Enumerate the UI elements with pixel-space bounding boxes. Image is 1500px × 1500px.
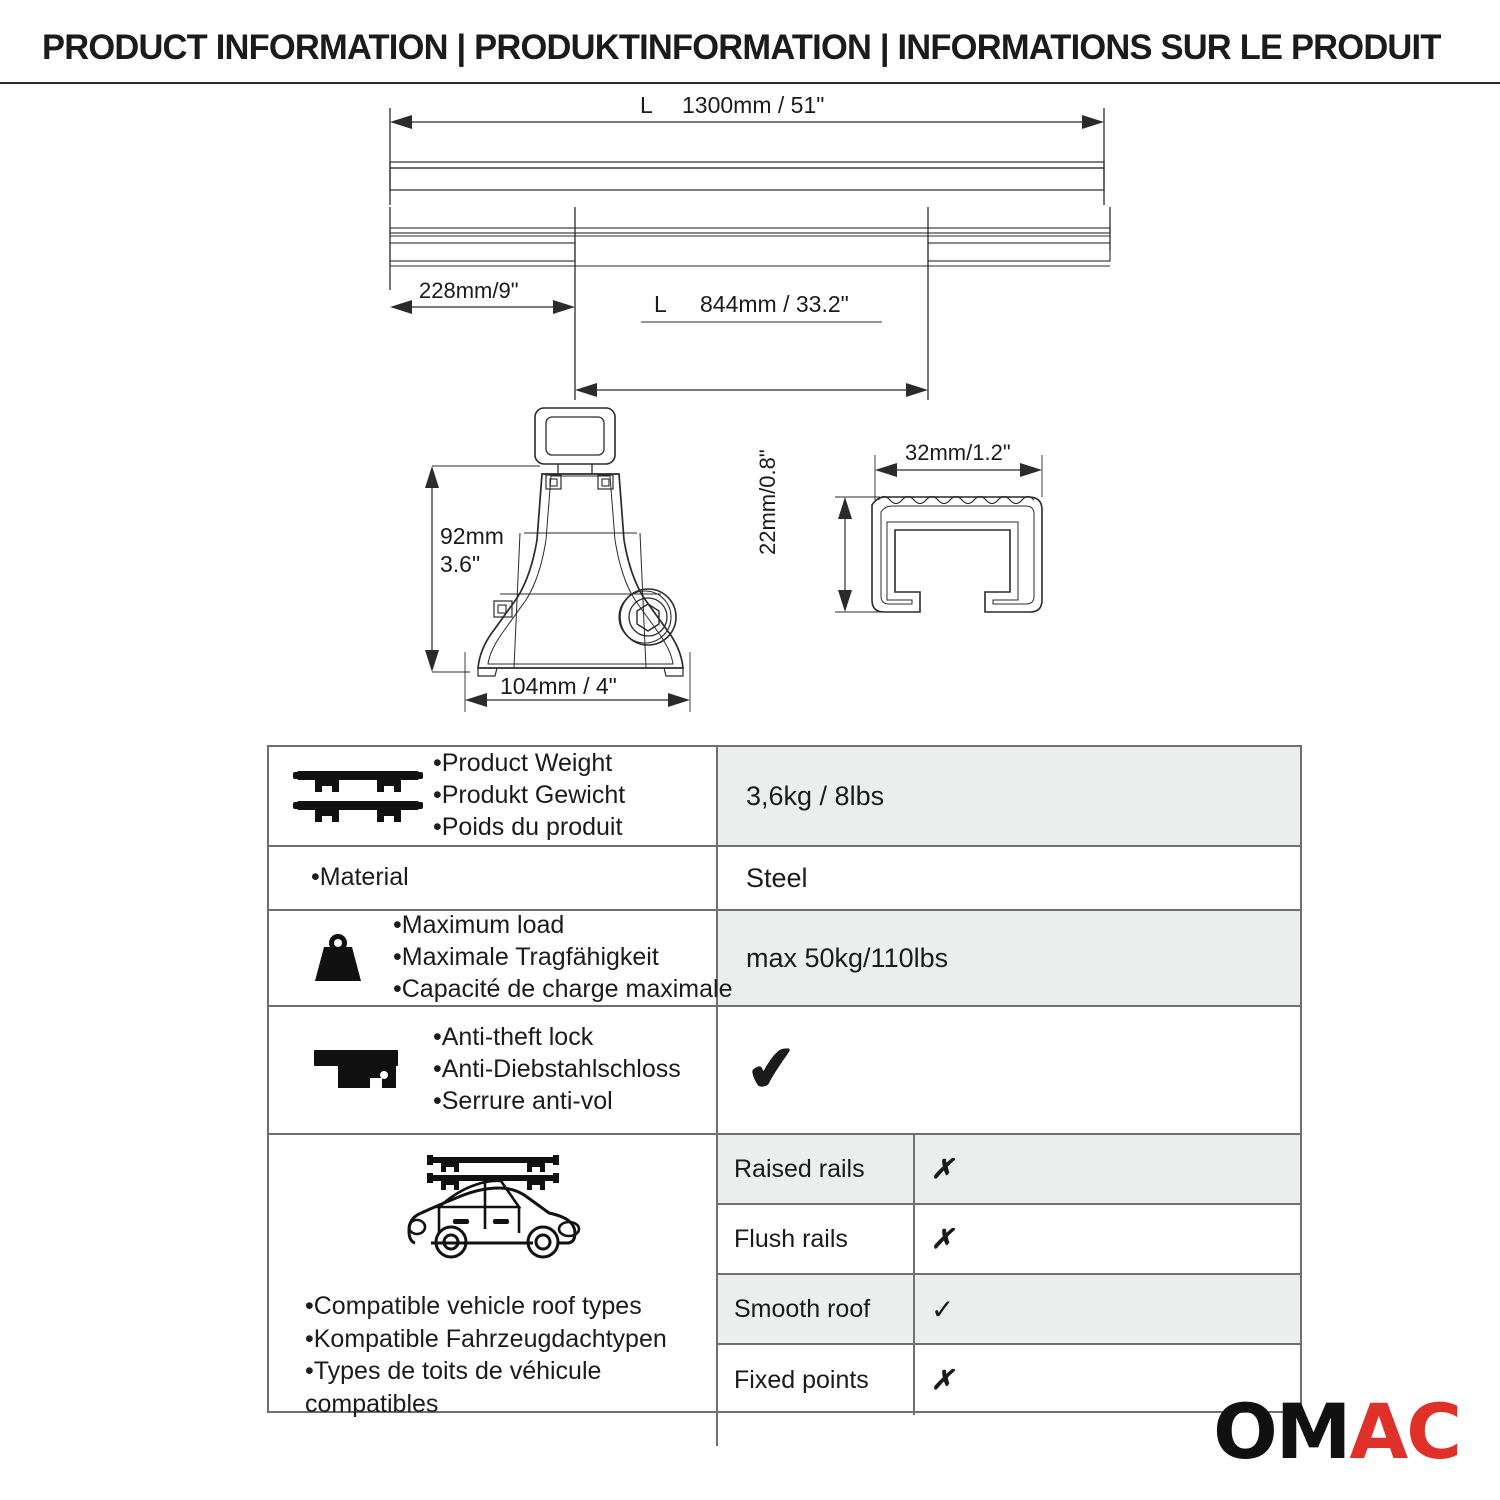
foot-height-line1: 92mm [440,523,504,550]
bar-length-prefix: L [640,92,653,119]
row-labels: •Anti-theft lock •Anti-Diebstahlschloss … [433,1022,681,1117]
roof-type-mark: ✓ [915,1275,1300,1343]
row-label-cell: •Material [269,847,718,909]
label-en: •Anti-theft lock [433,1022,681,1054]
page-title: PRODUCT INFORMATION | PRODUKTINFORMATION… [42,28,1441,68]
table-row-product-weight: •Product Weight •Produkt Gewicht •Poids … [269,747,1300,847]
logo-text-ac: AC [1349,1387,1460,1476]
label-fr: •Types de toits de véhicule compatibles [305,1355,665,1420]
bar-length-value: 1300mm / 51" [682,92,824,119]
omac-logo: OMAC [1213,1394,1460,1470]
car-with-roofrack-icon [393,1147,593,1278]
roof-type-name: Smooth roof [718,1275,915,1343]
row-labels: •Material [283,862,409,894]
weight-icon [283,927,393,989]
spread-prefix: L [654,291,667,318]
cross-icon: ✗ [931,1154,954,1185]
label-de: •Kompatible Fahrzeugdachtypen [305,1323,667,1356]
foot-width-value: 104mm / 4" [500,673,617,700]
foot-offset-value: 228mm/9" [419,278,519,304]
label-fr: •Capacité de charge maximale [393,974,732,1006]
cross-icon: ✗ [931,1365,954,1396]
row-label-cell: •Maximum load •Maximale Tragfähigkeit •C… [269,911,718,1005]
row-labels: •Maximum load •Maximale Tragfähigkeit •C… [393,910,732,1005]
anti-theft-lock-value: ✔ [718,1007,1300,1133]
product-info-sheet: PRODUCT INFORMATION | PRODUKTINFORMATION… [0,0,1500,1500]
roof-type-row-raised-rails: Raised rails ✗ [718,1135,1300,1205]
label-fr: •Poids du produit [433,812,625,844]
compatibility-labels: •Compatible vehicle roof types •Kompatib… [269,1278,667,1420]
row-label-cell: •Product Weight •Produkt Gewicht •Poids … [269,747,718,845]
maximum-load-value: max 50kg/110lbs [718,911,1300,1005]
specification-table: •Product Weight •Produkt Gewicht •Poids … [267,745,1302,1413]
foot-height-line2: 3.6" [440,551,480,578]
label-fr: •Serrure anti-vol [433,1086,681,1118]
roof-type-name: Raised rails [718,1135,915,1203]
cross-icon: ✗ [931,1224,954,1255]
header-divider [0,82,1500,84]
row-labels: •Product Weight •Produkt Gewicht •Poids … [433,748,625,843]
product-weight-value: 3,6kg / 8lbs [718,747,1300,845]
label-en: •Material [311,862,409,894]
roof-type-row-smooth-roof: Smooth roof ✓ [718,1275,1300,1345]
spread-value: 844mm / 33.2" [700,291,849,318]
roof-type-row-flush-rails: Flush rails ✗ [718,1205,1300,1275]
row-label-cell: •Anti-theft lock •Anti-Diebstahlschloss … [269,1007,718,1133]
profile-height-value: 22mm/0.8" [755,449,781,555]
material-value: Steel [718,847,1300,909]
roof-type-name: Fixed points [718,1345,915,1415]
lock-icon [283,1044,433,1096]
roof-type-mark: ✗ [915,1205,1300,1273]
label-en: •Product Weight [433,748,625,780]
table-row-anti-theft-lock: •Anti-theft lock •Anti-Diebstahlschloss … [269,1007,1300,1135]
label-de: •Maximale Tragfähigkeit [393,942,732,974]
table-row-material: •Material Steel [269,847,1300,911]
label-en: •Compatible vehicle roof types [305,1290,667,1323]
profile-width-value: 32mm/1.2" [905,440,1011,466]
label-en: •Maximum load [393,910,732,942]
table-row-maximum-load: •Maximum load •Maximale Tragfähigkeit •C… [269,911,1300,1007]
roof-type-mark: ✗ [915,1135,1300,1203]
label-de: •Produkt Gewicht [433,780,625,812]
label-de: •Anti-Diebstahlschloss [433,1054,681,1086]
table-row-compatibility: •Compatible vehicle roof types •Kompatib… [269,1135,1300,1446]
checkmark-icon: ✔ [743,1036,801,1103]
roof-type-name: Flush rails [718,1205,915,1273]
compatibility-label-cell: •Compatible vehicle roof types •Kompatib… [269,1135,718,1446]
logo-text-om: OM [1213,1387,1349,1476]
crossbars-icon [283,765,433,827]
checkmark-icon: ✓ [931,1293,954,1326]
